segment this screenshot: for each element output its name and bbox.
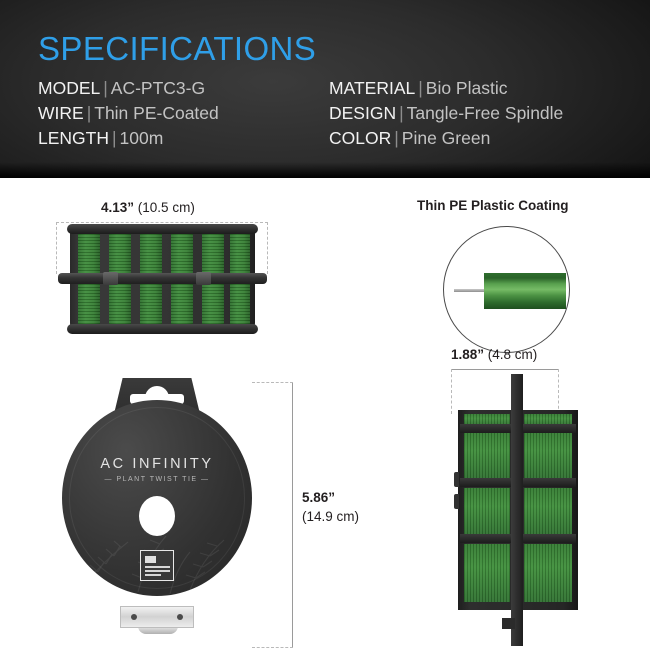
dimension-label-package-height: 5.86” (14.9 cm) — [302, 488, 359, 526]
spindle-side-view — [458, 410, 578, 625]
spec-label-wire: WIRE — [38, 103, 84, 123]
measure-tick-right — [267, 222, 268, 274]
dimension-cm: (4.8 cm) — [488, 347, 538, 362]
spec-label-design: DESIGN — [329, 103, 396, 123]
wire-segment — [524, 488, 572, 534]
measure-bracket-height — [292, 382, 293, 648]
diagram-area: 4.13” (10.5 cm) — [0, 178, 650, 650]
coating-detail-heading: Thin PE Plastic Coating — [417, 198, 569, 213]
spec-row-wire: WIRE|Thin PE-Coated — [38, 101, 219, 126]
wire-segment — [230, 284, 250, 324]
measure-tick-right — [558, 369, 559, 414]
spec-column-left: MODEL|AC-PTC3-G WIRE|Thin PE-Coated LENG… — [38, 76, 219, 151]
spindle-rail-bottom — [67, 324, 258, 334]
dimension-inches: 1.88” — [451, 347, 484, 362]
wire-segment — [464, 432, 510, 478]
spec-separator: | — [109, 128, 120, 148]
dimension-cm: (10.5 cm) — [138, 200, 195, 215]
spec-row-length: LENGTH|100m — [38, 126, 219, 151]
wire-segment — [524, 432, 572, 478]
spec-value-wire: Thin PE-Coated — [94, 103, 219, 123]
wire-segment — [230, 234, 250, 274]
wire-segment — [464, 544, 510, 602]
spec-value-design: Tangle-Free Spindle — [407, 103, 564, 123]
spindle-center-band — [58, 273, 267, 284]
measure-tick-left — [451, 369, 452, 414]
specifications-header: SPECIFICATIONS MODEL|AC-PTC3-G WIRE|Thin… — [0, 0, 650, 178]
spec-label-model: MODEL — [38, 78, 100, 98]
measure-tick-bottom — [252, 647, 293, 648]
measure-bracket-depth — [451, 369, 559, 370]
spindle-clip — [103, 272, 118, 285]
page-title: SPECIFICATIONS — [38, 30, 316, 68]
spec-label-length: LENGTH — [38, 128, 109, 148]
measure-tick-top — [252, 382, 293, 383]
dimension-cm: (14.9 cm) — [302, 509, 359, 524]
product-subtitle: — PLANT TWIST TIE — — [62, 476, 252, 483]
spindle-foot — [502, 618, 515, 629]
package-info-label — [140, 550, 174, 581]
spec-label-material: MATERIAL — [329, 78, 415, 98]
package-disc: AC INFINITY — PLANT TWIST TIE — — [62, 400, 252, 596]
wire-segment — [140, 234, 162, 274]
spec-row-model: MODEL|AC-PTC3-G — [38, 76, 219, 101]
spindle-rail-top — [67, 224, 258, 234]
wire-pe-coating — [484, 273, 566, 309]
spindle-center-hole — [139, 496, 175, 536]
dimension-inches: 4.13” — [101, 200, 134, 215]
measure-bracket-top — [56, 222, 268, 223]
dimension-label-spindle-depth: 1.88” (4.8 cm) — [451, 347, 537, 362]
spec-column-right: MATERIAL|Bio Plastic DESIGN|Tangle-Free … — [329, 76, 563, 151]
product-spec-sheet: SPECIFICATIONS MODEL|AC-PTC3-G WIRE|Thin… — [0, 0, 650, 650]
wire-segment — [171, 234, 193, 274]
screw-hole-icon — [177, 614, 183, 620]
wire-segment — [171, 284, 193, 324]
wire-segment — [78, 284, 100, 324]
wire-segment — [202, 284, 224, 324]
spec-separator: | — [415, 78, 426, 98]
wire-segment — [140, 284, 162, 324]
spec-row-color: COLOR|Pine Green — [329, 126, 563, 151]
wire-segment — [78, 234, 100, 274]
wire-segment — [202, 234, 224, 274]
wire-segment — [464, 488, 510, 534]
package-metal-bracket — [120, 606, 194, 628]
wire-segment — [109, 234, 131, 274]
spec-separator: | — [84, 103, 95, 123]
spindle-side-nub — [454, 494, 459, 509]
spec-separator: | — [100, 78, 111, 98]
spec-separator: | — [391, 128, 402, 148]
spec-separator: | — [396, 103, 407, 123]
spec-value-material: Bio Plastic — [426, 78, 508, 98]
screw-hole-icon — [131, 614, 137, 620]
spec-row-design: DESIGN|Tangle-Free Spindle — [329, 101, 563, 126]
brand-name: AC INFINITY — [62, 456, 252, 472]
measure-tick-left — [56, 222, 57, 274]
spindle-side-nub — [454, 472, 459, 487]
spindle-clip — [196, 272, 211, 285]
package-front-view: AC INFINITY — PLANT TWIST TIE — — [62, 378, 252, 628]
spec-value-model: AC-PTC3-G — [111, 78, 205, 98]
wire-segment — [109, 284, 131, 324]
spindle-center-spine — [511, 374, 523, 646]
spec-row-material: MATERIAL|Bio Plastic — [329, 76, 563, 101]
spec-value-color: Pine Green — [402, 128, 491, 148]
coating-magnifier-circle — [443, 226, 570, 353]
spec-value-length: 100m — [120, 128, 164, 148]
dimension-inches: 5.86” — [302, 490, 335, 505]
dimension-label-spindle-width: 4.13” (10.5 cm) — [101, 200, 195, 215]
wire-segment — [524, 544, 572, 602]
spindle-front-view — [70, 226, 255, 331]
spec-label-color: COLOR — [329, 128, 391, 148]
